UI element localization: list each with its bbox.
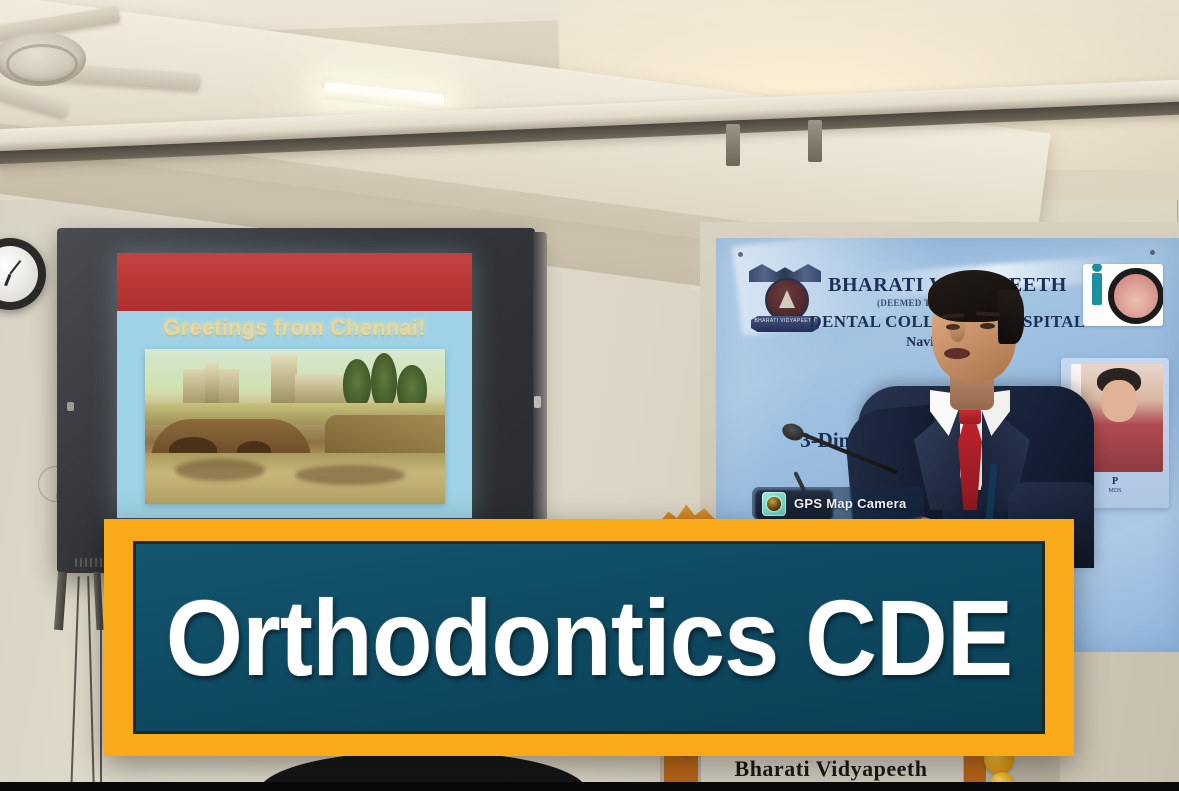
presenter-hair-side [998,290,1024,344]
display-side-button[interactable] [534,396,541,408]
artwork-tower [271,355,297,405]
presenter-mouth [944,348,970,359]
artwork-reflection [295,465,405,485]
watermark-label: GPS Map Camera [794,496,907,511]
screen-bracket [808,120,822,162]
title-banner-text: Orthodontics CDE [166,584,1012,692]
podium-nameplate-text: Bharati Vidyapeeth [700,756,962,782]
photo-scene: Greetings from Chennai! [0,0,1179,791]
gps-map-camera-watermark: GPS Map Camera [752,487,924,520]
artwork-tower [205,363,219,403]
presentation-slide: Greetings from Chennai! [117,253,472,518]
presenter-eye [980,323,995,329]
backdrop-pin [738,252,743,257]
fan-ring [6,44,78,84]
lens-glyph [767,497,781,511]
slide-artwork [145,349,445,504]
clock-minute-hand [9,260,21,275]
slide-header-band [117,253,472,311]
clock-face [0,246,38,302]
ceiling-fan [0,0,230,120]
image-bottom-edge [0,782,1179,791]
backdrop-pin [1150,250,1155,255]
presenter-tie-knot [959,408,981,424]
logo-letter-o [1108,268,1163,324]
portrait-face [1101,380,1137,422]
slide-heading: Greetings from Chennai! [117,315,472,341]
camera-lens-icon [762,492,786,516]
title-banner-fill: Orthodontics CDE [136,544,1042,731]
artwork-tree [343,359,371,409]
artwork-reflection [175,459,265,481]
screen-bracket [726,124,740,166]
presenter-nose [950,320,965,342]
clock-hour-hand [4,274,11,286]
display-indicator-light [67,402,74,411]
partner-logo-icon [1083,264,1163,326]
artwork-tree [371,353,397,409]
